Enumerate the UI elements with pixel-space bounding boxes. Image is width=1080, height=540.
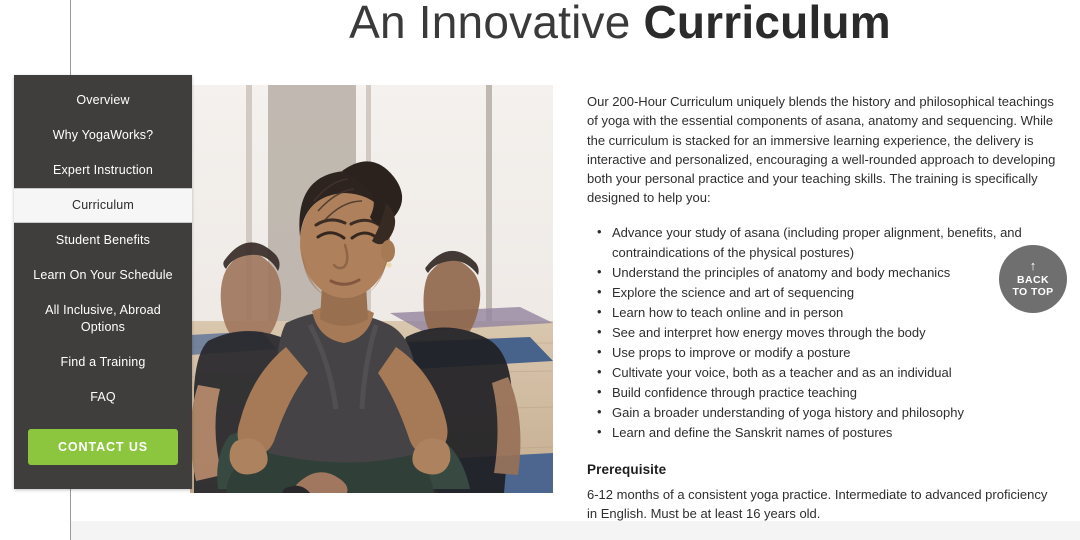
back-to-top-button[interactable]: ↑ BACK TO TOP [999,245,1067,313]
list-item: Learn and define the Sanskrit names of p… [587,423,1061,443]
sidebar-item-faq[interactable]: FAQ [14,380,192,415]
sidebar-item-why-yogaworks[interactable]: Why YogaWorks? [14,118,192,153]
curriculum-article: Our 200-Hour Curriculum uniquely blends … [587,92,1061,523]
list-item: See and interpret how energy moves throu… [587,323,1061,343]
prerequisite-heading: Prerequisite [587,462,1061,477]
list-item: Explore the science and art of sequencin… [587,283,1061,303]
sidebar-item-curriculum[interactable]: Curriculum [14,188,192,223]
section-nav-sidebar: Overview Why YogaWorks? Expert Instructi… [14,75,192,489]
page-title-bold: Curriculum [643,0,890,48]
page-title: An Innovative Curriculum [190,0,1050,50]
bottom-section-band [71,521,1080,540]
list-item: Build confidence through practice teachi… [587,383,1061,403]
yoga-class-photo-illustration [190,85,553,493]
list-item: Learn how to teach online and in person [587,303,1061,323]
sidebar-item-overview[interactable]: Overview [14,83,192,118]
page-title-light: An Innovative [349,0,643,48]
sidebar-item-learn-on-your-schedule[interactable]: Learn On Your Schedule [14,258,192,293]
list-item: Cultivate your voice, both as a teacher … [587,363,1061,383]
sidebar-item-expert-instruction[interactable]: Expert Instruction [14,153,192,188]
sidebar-item-find-a-training[interactable]: Find a Training [14,345,192,380]
arrow-up-icon: ↑ [1030,260,1037,272]
sidebar-item-student-benefits[interactable]: Student Benefits [14,223,192,258]
contact-us-button[interactable]: CONTACT US [28,429,178,465]
list-item: Use props to improve or modify a posture [587,343,1061,363]
back-to-top-label-line2: TO TOP [1012,286,1053,299]
list-item: Advance your study of asana (including p… [587,223,1061,263]
sidebar-item-all-inclusive-abroad-options[interactable]: All Inclusive, Abroad Options [14,293,192,345]
list-item: Gain a broader understanding of yoga his… [587,403,1061,423]
contact-button-wrapper: CONTACT US [14,415,192,467]
curriculum-intro-paragraph: Our 200-Hour Curriculum uniquely blends … [587,92,1061,208]
prerequisite-text: 6-12 months of a consistent yoga practic… [587,485,1061,524]
back-to-top-label-line1: BACK [1017,274,1049,287]
yoga-class-photo [190,85,553,493]
curriculum-bullet-list: Advance your study of asana (including p… [587,223,1061,443]
list-item: Understand the principles of anatomy and… [587,263,1061,283]
page-root: An Innovative Curriculum Overview Why Yo… [0,0,1080,540]
